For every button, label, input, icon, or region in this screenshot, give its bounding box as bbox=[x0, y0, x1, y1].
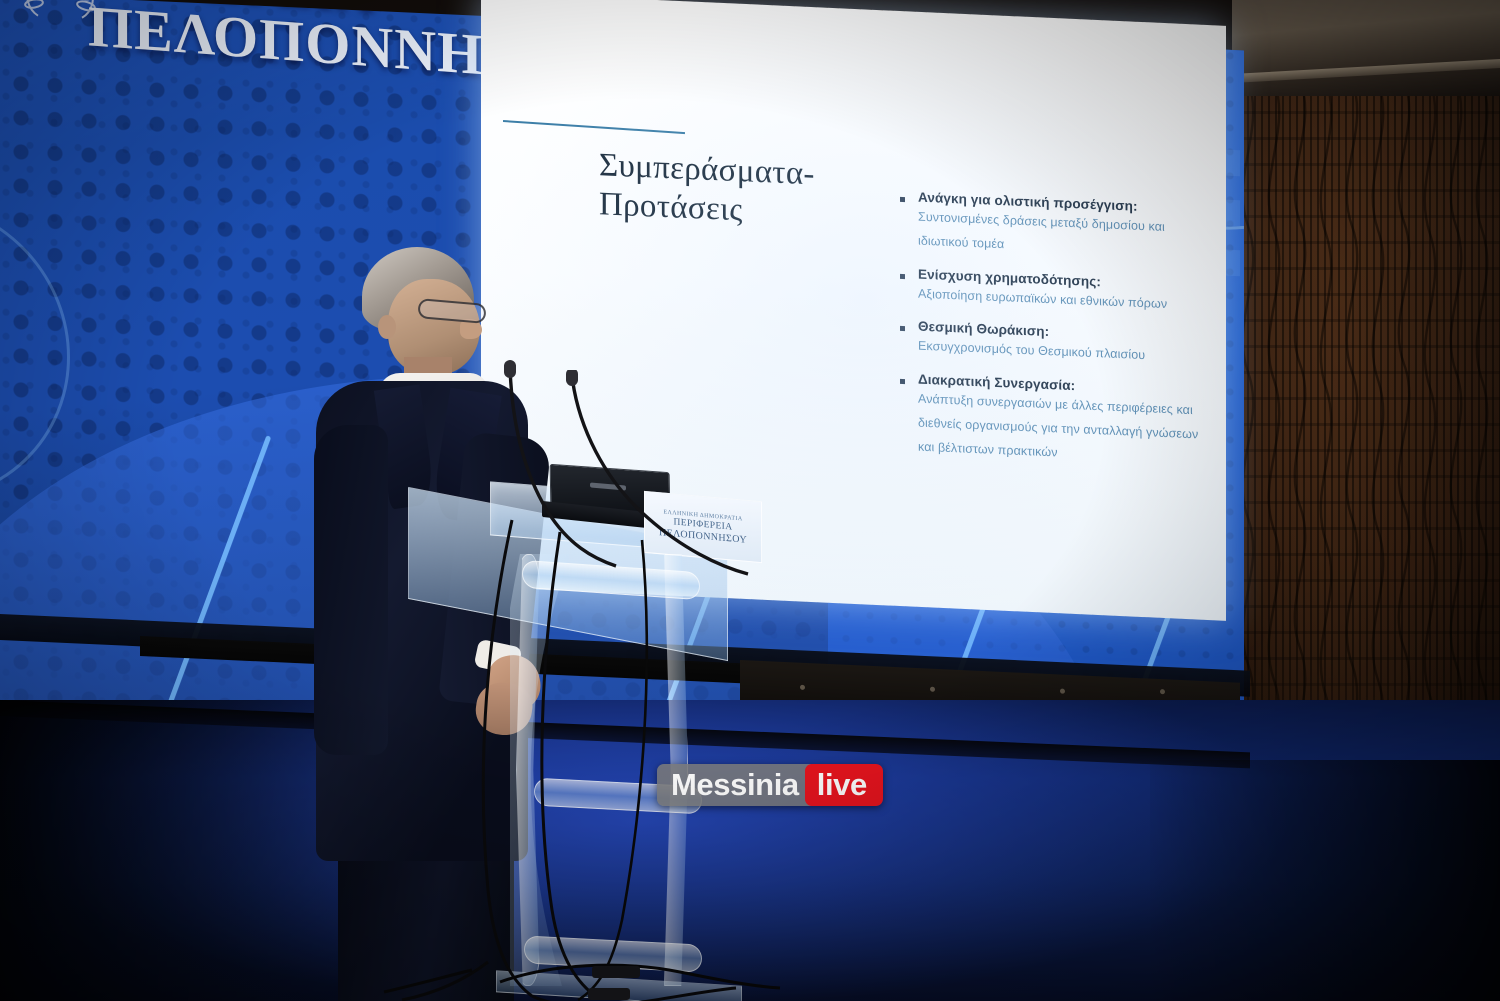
bolt-icon bbox=[1060, 689, 1065, 694]
podium: ΕΛΛΗΝΙΚΗ ΔΗΜΟΚΡΑΤΙΑ ΠΕΡΙΦΕΡΕΙΑ ΠΕΛΟΠΟΝΝΗ… bbox=[392, 470, 772, 995]
bolt-icon bbox=[1160, 689, 1165, 694]
list-item: Θεσμική Θωράκιση: Εκσυγχρονισμός του Θεσ… bbox=[896, 318, 1201, 370]
watermark-name: Messinia bbox=[657, 764, 811, 806]
watermark-logo: Messinia live bbox=[657, 764, 883, 806]
bolt-icon bbox=[930, 687, 935, 692]
list-item: Ανάγκη για ολιστική προσέγγιση: Συντονισ… bbox=[896, 189, 1201, 266]
bullet-body: Συντονισμένες δράσεις μεταξύ δημοσίου κα… bbox=[918, 205, 1201, 266]
podium-cables bbox=[392, 510, 772, 1001]
list-item: Ενίσχυση χρηματοδότησης: Αξιοποίηση ευρω… bbox=[896, 265, 1201, 317]
floor-shadow-right bbox=[1150, 760, 1500, 1001]
slide-bullet-list: Ανάγκη για ολιστική προσέγγιση: Συντονισ… bbox=[896, 189, 1201, 484]
scene-root: ΕΡΕΙΑ ΠΕΛΟΠΟΝΝΗΣΟΥ Συμπεράσματα-Προτάσει… bbox=[0, 0, 1500, 1001]
room-ceiling bbox=[1232, 0, 1500, 96]
list-item: Διακρατική Συνεργασία: Ανάπτυξη συνεργασ… bbox=[896, 370, 1201, 471]
floor-cables bbox=[380, 930, 800, 1000]
speaker-arm-left bbox=[314, 425, 388, 755]
watermark-suffix: live bbox=[805, 764, 883, 806]
bullet-body: Ανάπτυξη συνεργασιών με άλλες περιφέρειε… bbox=[918, 386, 1201, 471]
slide-accent-line bbox=[503, 120, 685, 134]
slide-title: Συμπεράσματα-Προτάσεις bbox=[599, 146, 899, 236]
speaker-ear bbox=[378, 315, 396, 339]
bolt-icon bbox=[800, 685, 805, 690]
